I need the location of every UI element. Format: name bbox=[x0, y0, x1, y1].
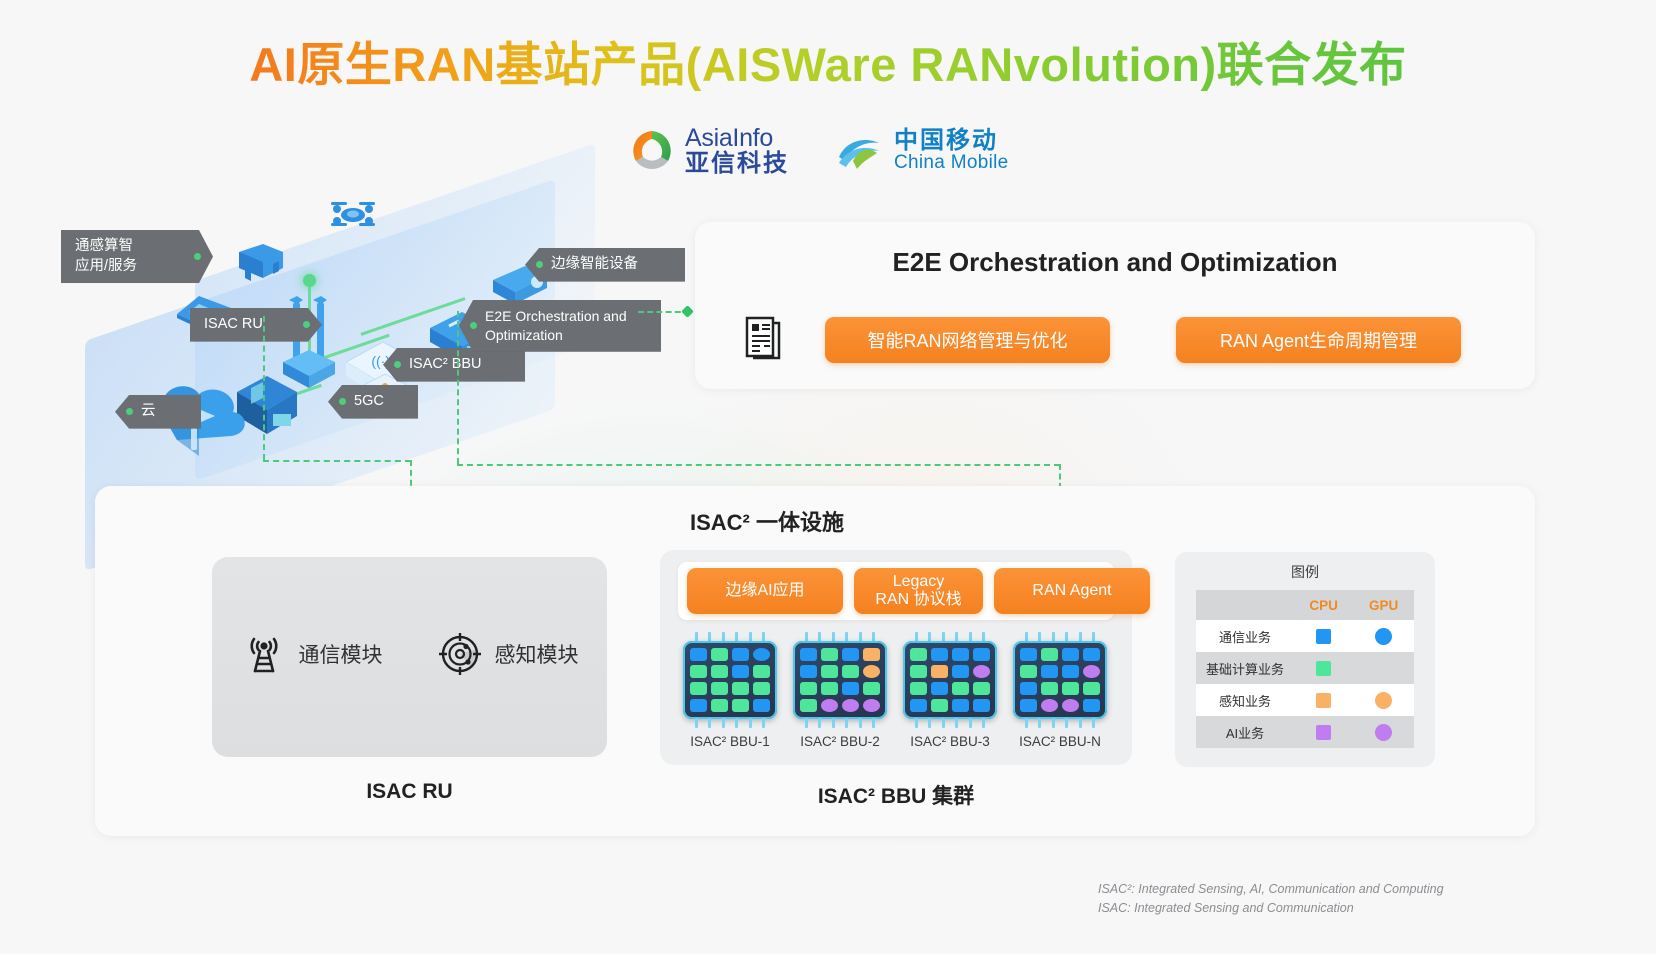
chip-cell bbox=[800, 665, 817, 678]
tag-isac-ru-label: ISAC RU bbox=[204, 315, 263, 335]
chip-cell bbox=[863, 682, 880, 695]
footnote-isac2: ISAC²: Integrated Sensing, AI, Communica… bbox=[1098, 880, 1444, 899]
tag-isac2-bbu[interactable]: ISAC² BBU bbox=[383, 348, 525, 382]
chip-die bbox=[793, 641, 887, 719]
legend-swatch bbox=[1375, 692, 1392, 709]
chip-cell bbox=[952, 648, 969, 661]
chip-cell bbox=[753, 699, 770, 712]
chip-cell bbox=[1083, 699, 1100, 712]
chip-cell bbox=[711, 682, 728, 695]
chip-cell bbox=[821, 682, 838, 695]
isac-ru-caption: ISAC RU bbox=[212, 780, 607, 804]
chip-cell bbox=[690, 699, 707, 712]
legend-col-blank bbox=[1196, 590, 1294, 620]
chip-cell bbox=[1083, 665, 1100, 678]
chip-cell bbox=[732, 699, 749, 712]
chip-label: ISAC² BBU-N bbox=[1013, 734, 1107, 749]
chip-cell bbox=[910, 665, 927, 678]
dashed-connector-ru-h bbox=[263, 460, 411, 462]
tag-node-dot bbox=[536, 261, 543, 268]
module-communication: 通信模块 bbox=[241, 631, 383, 677]
chip-cell bbox=[1041, 648, 1058, 661]
chip-cell bbox=[821, 665, 838, 678]
bbu-chip: ISAC² BBU-3 bbox=[903, 632, 997, 749]
chip-body bbox=[683, 632, 777, 728]
tag-node-dot bbox=[470, 322, 477, 329]
tag-node-dot bbox=[339, 398, 346, 405]
asiainfo-logo-cn: 亚信科技 bbox=[685, 151, 789, 176]
pill-ran-agent[interactable]: RAN Agent bbox=[994, 568, 1150, 614]
asiainfo-logo-en: AsiaInfo bbox=[685, 125, 789, 151]
asiainfo-logo-text: AsiaInfo 亚信科技 bbox=[685, 125, 789, 176]
bbu-chip: ISAC² BBU-N bbox=[1013, 632, 1107, 749]
chip-body bbox=[1013, 632, 1107, 728]
chip-cell bbox=[753, 665, 770, 678]
chip-cell bbox=[952, 682, 969, 695]
legend-row-label: AI业务 bbox=[1196, 716, 1294, 748]
legend-row-label: 感知业务 bbox=[1196, 684, 1294, 716]
e2e-orchestration-panel: E2E Orchestration and Optimization 智能RAN… bbox=[695, 222, 1535, 389]
legend-cpu-cell bbox=[1294, 716, 1353, 748]
asiainfo-mark-icon bbox=[628, 127, 676, 175]
slide-root: AI原生RAN基站产品(AISWare RANvolution)联合发布 Asi… bbox=[0, 0, 1656, 954]
chip-cell bbox=[1062, 665, 1079, 678]
tag-isac2-bbu-label: ISAC² BBU bbox=[409, 355, 482, 375]
chip-cell bbox=[690, 682, 707, 695]
chip-cell bbox=[973, 648, 990, 661]
bbu-chip: ISAC² BBU-1 bbox=[683, 632, 777, 749]
dashed-connector-ru-v1 bbox=[263, 316, 265, 460]
document-icon bbox=[743, 314, 783, 362]
dashed-connector-bbu-h bbox=[457, 464, 1060, 466]
legend-swatch bbox=[1316, 693, 1331, 708]
legend-table: CPU GPU 通信业务基础计算业务感知业务AI业务 bbox=[1196, 590, 1414, 748]
chip-cell bbox=[711, 665, 728, 678]
legend-row-label: 基础计算业务 bbox=[1196, 652, 1294, 684]
tag-cloud[interactable]: 云 bbox=[115, 395, 201, 429]
chip-cell bbox=[863, 665, 880, 678]
legend-swatch bbox=[1375, 628, 1392, 645]
chip-body bbox=[903, 632, 997, 728]
bbu-chip: ISAC² BBU-2 bbox=[793, 632, 887, 749]
radar-icon bbox=[437, 631, 483, 677]
page-title: AI原生RAN基站产品(AISWare RANvolution)联合发布 bbox=[0, 26, 1656, 95]
tag-edge-device-label: 边缘智能设备 bbox=[551, 255, 638, 275]
legend-swatch bbox=[1375, 724, 1392, 741]
chip-cell bbox=[973, 699, 990, 712]
logo-row: AsiaInfo 亚信科技 中国移动 China Mobile bbox=[628, 125, 1009, 176]
bbu-chip-row: ISAC² BBU-1ISAC² BBU-2ISAC² BBU-3ISAC² B… bbox=[683, 632, 1107, 749]
isac2-section-title: ISAC² 一体设施 bbox=[690, 505, 844, 537]
chip-cell bbox=[753, 682, 770, 695]
tag-edge-device[interactable]: 边缘智能设备 bbox=[525, 248, 685, 282]
isac2-bbu-caption: ISAC² BBU 集群 bbox=[660, 780, 1132, 810]
software-pill-row: 边缘AI应用 Legacy RAN 协议栈 RAN Agent bbox=[687, 568, 1150, 614]
chip-cell bbox=[1020, 648, 1037, 661]
chip-cell bbox=[1020, 665, 1037, 678]
drone-icon bbox=[317, 190, 389, 238]
legend-row: AI业务 bbox=[1196, 716, 1414, 748]
chip-cell bbox=[1062, 682, 1079, 695]
tag-node-dot bbox=[303, 321, 310, 328]
legend-gpu-cell bbox=[1353, 716, 1414, 748]
chip-cell bbox=[800, 682, 817, 695]
legend-cpu-cell bbox=[1294, 684, 1353, 716]
china-mobile-logo: 中国移动 China Mobile bbox=[833, 127, 1009, 175]
vr-headset-icon bbox=[233, 238, 289, 290]
chip-cell bbox=[910, 648, 927, 661]
chip-cell bbox=[732, 682, 749, 695]
chip-cell bbox=[753, 648, 770, 661]
footnote-isac: ISAC: Integrated Sensing and Communicati… bbox=[1098, 899, 1444, 918]
chip-cell bbox=[1083, 682, 1100, 695]
chip-cell bbox=[1062, 699, 1079, 712]
legend-cpu-cell bbox=[1294, 620, 1353, 652]
chip-cell bbox=[973, 665, 990, 678]
chip-cell bbox=[931, 682, 948, 695]
legend-col-gpu: GPU bbox=[1353, 590, 1414, 620]
legend-box: 图例 CPU GPU 通信业务基础计算业务感知业务AI业务 bbox=[1175, 552, 1435, 767]
chip-cell bbox=[863, 648, 880, 661]
legend-row: 通信业务 bbox=[1196, 620, 1414, 652]
pill-legacy-ran-stack[interactable]: Legacy RAN 协议栈 bbox=[854, 568, 983, 614]
chip-cell bbox=[931, 648, 948, 661]
chip-die bbox=[903, 641, 997, 719]
chip-cell bbox=[1041, 665, 1058, 678]
footnotes: ISAC²: Integrated Sensing, AI, Communica… bbox=[1098, 880, 1444, 919]
tag-node-dot bbox=[394, 361, 401, 368]
chip-cell bbox=[711, 648, 728, 661]
module-communication-label: 通信模块 bbox=[299, 639, 383, 669]
chip-cell bbox=[1041, 682, 1058, 695]
pill-legacy-ran-stack-label: Legacy RAN 协议栈 bbox=[875, 573, 961, 610]
isac-ru-box: 通信模块 感知模块 bbox=[212, 557, 607, 757]
e2e-pill-ran-management[interactable]: 智能RAN网络管理与优化 bbox=[825, 317, 1110, 363]
chip-pins-bottom bbox=[805, 718, 875, 728]
chip-cell bbox=[931, 665, 948, 678]
legend-title: 图例 bbox=[1175, 552, 1435, 582]
module-sensing-label: 感知模块 bbox=[495, 639, 579, 669]
legend-swatch bbox=[1316, 661, 1331, 676]
dashed-connector-bbu-v1 bbox=[457, 311, 459, 464]
chip-die bbox=[683, 641, 777, 719]
chip-label: ISAC² BBU-1 bbox=[683, 734, 777, 749]
chip-body bbox=[793, 632, 887, 728]
chip-cell bbox=[842, 648, 859, 661]
china-mobile-logo-cn: 中国移动 bbox=[894, 128, 1009, 153]
tag-5gc-label: 5GC bbox=[354, 392, 384, 412]
legend-gpu-cell bbox=[1353, 684, 1414, 716]
chip-cell bbox=[711, 699, 728, 712]
legend-row-label: 通信业务 bbox=[1196, 620, 1294, 652]
china-mobile-logo-en: China Mobile bbox=[894, 153, 1009, 173]
chip-cell bbox=[732, 665, 749, 678]
chip-cell bbox=[973, 682, 990, 695]
legend-row: 感知业务 bbox=[1196, 684, 1414, 716]
tag-5gc[interactable]: 5GC bbox=[328, 385, 418, 419]
chip-label: ISAC² BBU-3 bbox=[903, 734, 997, 749]
pill-edge-ai-app-label: 边缘AI应用 bbox=[725, 582, 804, 600]
asiainfo-logo: AsiaInfo 亚信科技 bbox=[628, 125, 789, 176]
chip-cell bbox=[842, 699, 859, 712]
e2e-panel-heading: E2E Orchestration and Optimization bbox=[695, 222, 1535, 278]
legend-header-row: CPU GPU bbox=[1196, 590, 1414, 620]
legend-swatch bbox=[1316, 629, 1331, 644]
tag-node-dot bbox=[194, 253, 201, 260]
chip-die bbox=[1013, 641, 1107, 719]
tag-isac-ru[interactable]: ISAC RU bbox=[190, 308, 322, 342]
legend-gpu-cell bbox=[1353, 652, 1414, 684]
chip-cell bbox=[690, 665, 707, 678]
legend-col-cpu: CPU bbox=[1294, 590, 1353, 620]
chip-cell bbox=[800, 699, 817, 712]
china-mobile-mark-icon bbox=[833, 127, 885, 175]
china-mobile-logo-text: 中国移动 China Mobile bbox=[894, 128, 1009, 173]
chip-cell bbox=[821, 648, 838, 661]
chip-cell bbox=[690, 648, 707, 661]
chip-cell bbox=[842, 665, 859, 678]
legend-cpu-cell bbox=[1294, 652, 1353, 684]
e2e-pill-agent-lifecycle[interactable]: RAN Agent生命周期管理 bbox=[1176, 317, 1461, 363]
legend-gpu-cell bbox=[1353, 620, 1414, 652]
chip-pins-bottom bbox=[915, 718, 985, 728]
chip-cell bbox=[1041, 699, 1058, 712]
chip-cell bbox=[952, 699, 969, 712]
tag-app-service[interactable]: 通感算智 应用/服务 bbox=[61, 230, 213, 283]
chip-cell bbox=[910, 699, 927, 712]
tag-e2e-label: E2E Orchestration and Optimization bbox=[485, 307, 645, 345]
chip-cell bbox=[842, 682, 859, 695]
chip-cell bbox=[1083, 648, 1100, 661]
legend-swatch bbox=[1316, 725, 1331, 740]
chip-label: ISAC² BBU-2 bbox=[793, 734, 887, 749]
chip-cell bbox=[800, 648, 817, 661]
chip-cell bbox=[910, 682, 927, 695]
chip-pins-bottom bbox=[1025, 718, 1095, 728]
e2e-pill-row: 智能RAN网络管理与优化 RAN Agent生命周期管理 bbox=[825, 317, 1461, 363]
pill-ran-agent-label: RAN Agent bbox=[1032, 582, 1111, 600]
tag-node-dot bbox=[126, 408, 133, 415]
chip-cell bbox=[863, 699, 880, 712]
legend-row: 基础计算业务 bbox=[1196, 652, 1414, 684]
pill-edge-ai-app[interactable]: 边缘AI应用 bbox=[687, 568, 843, 614]
tag-e2e-orchestration[interactable]: E2E Orchestration and Optimization bbox=[459, 300, 661, 352]
iso-link-node bbox=[303, 274, 316, 287]
chip-pins-bottom bbox=[695, 718, 765, 728]
tag-app-service-label: 通感算智 应用/服务 bbox=[75, 237, 137, 276]
chip-cell bbox=[931, 699, 948, 712]
isac2-software-strip: 边缘AI应用 Legacy RAN 协议栈 RAN Agent bbox=[678, 562, 1114, 620]
chip-cell bbox=[821, 699, 838, 712]
chip-cell bbox=[732, 648, 749, 661]
tag-cloud-label: 云 bbox=[141, 402, 156, 422]
chip-cell bbox=[1020, 682, 1037, 695]
antenna-icon bbox=[241, 631, 287, 677]
module-sensing: 感知模块 bbox=[437, 631, 579, 677]
chip-cell bbox=[1020, 699, 1037, 712]
isac-ru-modules: 通信模块 感知模块 bbox=[212, 631, 607, 677]
chip-cell bbox=[1062, 648, 1079, 661]
chip-cell bbox=[952, 665, 969, 678]
isometric-network-diagram: ((·)) bbox=[45, 190, 725, 490]
